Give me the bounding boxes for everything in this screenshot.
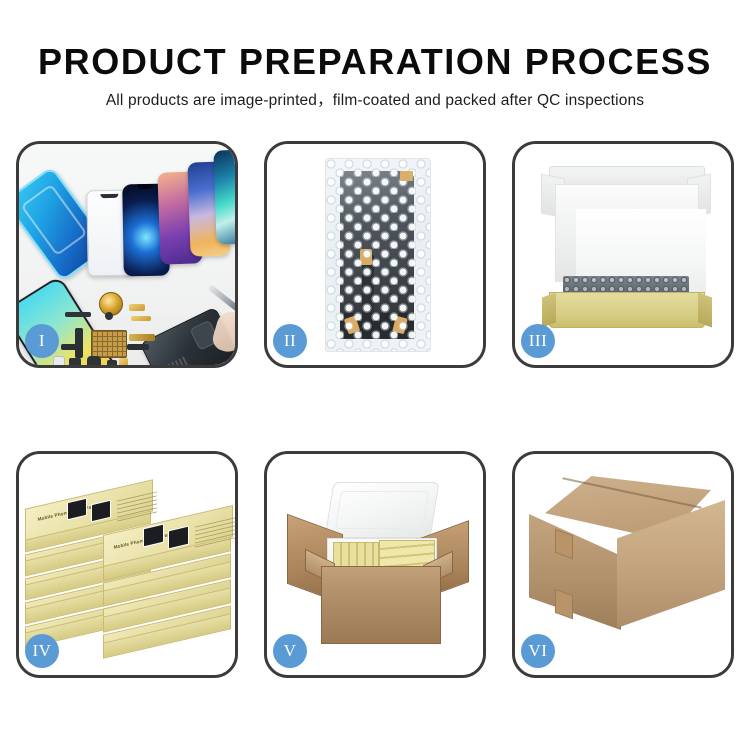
small-part xyxy=(119,358,128,365)
step-badge-1: I xyxy=(25,324,59,358)
step-badge-2: II xyxy=(273,324,307,358)
process-step-5[interactable]: V xyxy=(264,451,486,678)
step-badge-6: VI xyxy=(521,634,555,668)
screw-part xyxy=(221,362,230,365)
small-part xyxy=(69,358,81,365)
process-step-2[interactable]: II xyxy=(264,141,486,368)
foam-lid xyxy=(325,482,440,538)
header: PRODUCT PREPARATION PROCESS All products… xyxy=(0,0,750,110)
box-tray-yellow xyxy=(549,292,705,328)
bubble-wrap-package xyxy=(325,158,431,352)
sealed-shipping-carton xyxy=(529,476,725,642)
page-title: PRODUCT PREPARATION PROCESS xyxy=(0,0,750,81)
process-step-1[interactable]: I xyxy=(16,141,238,368)
notch-icon xyxy=(137,184,153,189)
small-part xyxy=(129,304,145,311)
flex-cable-part xyxy=(75,328,83,358)
carton-left-face xyxy=(529,514,621,630)
open-mailer-box xyxy=(541,166,711,326)
process-step-grid: I II xyxy=(16,141,734,678)
page-subtitle: All products are image-printed，film-coat… xyxy=(0,81,750,110)
small-part xyxy=(107,360,117,365)
bubble-texture xyxy=(326,159,430,351)
stacked-boxes: Mobile Phone Spare Parts Mobile Phone Sp… xyxy=(25,476,231,664)
small-part xyxy=(65,312,91,317)
open-shipping-carton xyxy=(287,482,469,648)
process-step-4[interactable]: Mobile Phone Spare Parts Mobile Phone Sp… xyxy=(16,451,238,678)
carton-body xyxy=(321,566,441,644)
box-interior xyxy=(555,184,699,282)
flex-cable-part xyxy=(129,334,155,341)
process-step-3[interactable]: III xyxy=(512,141,734,368)
process-step-6[interactable]: VI xyxy=(512,451,734,678)
small-part xyxy=(105,312,113,320)
flex-cable-part xyxy=(127,344,149,350)
small-part xyxy=(87,356,101,365)
notch-icon xyxy=(100,194,118,198)
step-badge-4: IV xyxy=(25,634,59,668)
phone-screen-teal xyxy=(213,149,235,244)
step-badge-3: III xyxy=(521,324,555,358)
product-preparation-infographic: PRODUCT PREPARATION PROCESS All products… xyxy=(0,0,750,750)
small-part xyxy=(53,356,65,365)
adhesive-tab xyxy=(400,171,413,181)
step-badge-5: V xyxy=(273,634,307,668)
carton-tape-bottom xyxy=(555,589,573,620)
flex-cable-part xyxy=(61,344,81,350)
small-part xyxy=(131,316,151,321)
shield-mesh-part xyxy=(91,330,127,358)
